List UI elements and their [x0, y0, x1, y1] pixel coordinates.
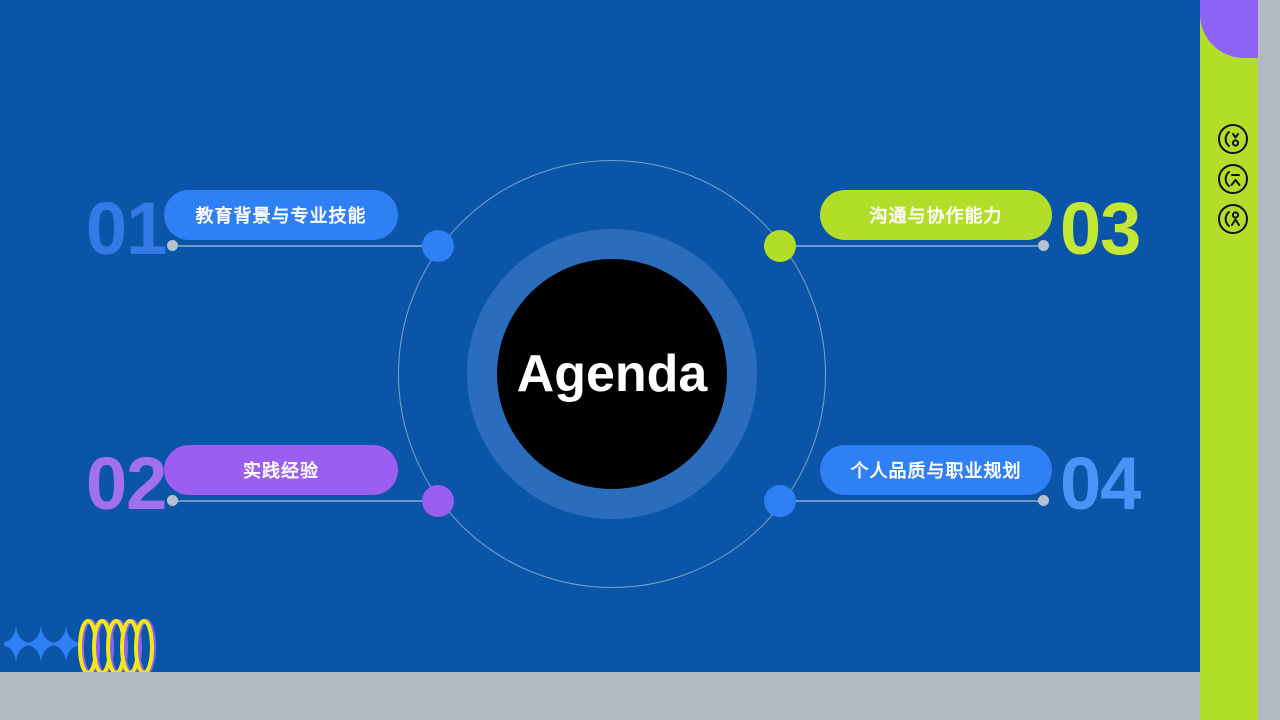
agenda-number-2: 02	[86, 447, 166, 521]
connector-tip-dot-4	[1038, 495, 1049, 506]
face-circle-icon-2[interactable]	[1216, 162, 1250, 196]
agenda-pill-label-3: 沟通与协作能力	[870, 202, 1003, 228]
agenda-pill-label-1: 教育背景与专业技能	[196, 202, 367, 228]
page-title: Agenda	[517, 344, 708, 404]
face-circle-icon-1[interactable]	[1216, 122, 1250, 156]
orbit-node-3[interactable]	[764, 230, 796, 262]
connector-tip-dot-1	[167, 240, 178, 251]
agenda-slide: Agenda 教育背景与专业技能 实践经验 沟通与协作能力 个人品质与职业规划 …	[0, 0, 1280, 720]
sidebar-icon-group	[1216, 122, 1250, 236]
agenda-pill-1[interactable]: 教育背景与专业技能	[164, 190, 398, 240]
agenda-pill-2[interactable]: 实践经验	[164, 445, 398, 495]
agenda-pill-3[interactable]: 沟通与协作能力	[820, 190, 1052, 240]
agenda-number-4: 04	[1060, 447, 1140, 521]
center-core-circle: Agenda	[497, 259, 727, 489]
face-circle-icon-3[interactable]	[1216, 202, 1250, 236]
orbit-node-1[interactable]	[422, 230, 454, 262]
connector-line-1	[174, 245, 440, 247]
bottom-gray-bar	[0, 672, 1200, 720]
connector-tip-dot-3	[1038, 240, 1049, 251]
right-gray-strip	[1258, 0, 1280, 720]
sparkle-decoration	[4, 622, 80, 671]
agenda-number-1: 01	[86, 192, 166, 266]
connector-line-2	[174, 500, 440, 502]
agenda-pill-4[interactable]: 个人品质与职业规划	[820, 445, 1052, 495]
connector-line-3	[780, 245, 1045, 247]
orbit-node-2[interactable]	[422, 485, 454, 517]
connector-tip-dot-2	[167, 495, 178, 506]
connector-line-4	[780, 500, 1045, 502]
right-green-panel	[1200, 0, 1258, 720]
agenda-pill-label-2: 实践经验	[243, 457, 319, 483]
orbit-node-4[interactable]	[764, 485, 796, 517]
agenda-number-3: 03	[1060, 192, 1140, 266]
agenda-pill-label-4: 个人品质与职业规划	[851, 457, 1022, 483]
